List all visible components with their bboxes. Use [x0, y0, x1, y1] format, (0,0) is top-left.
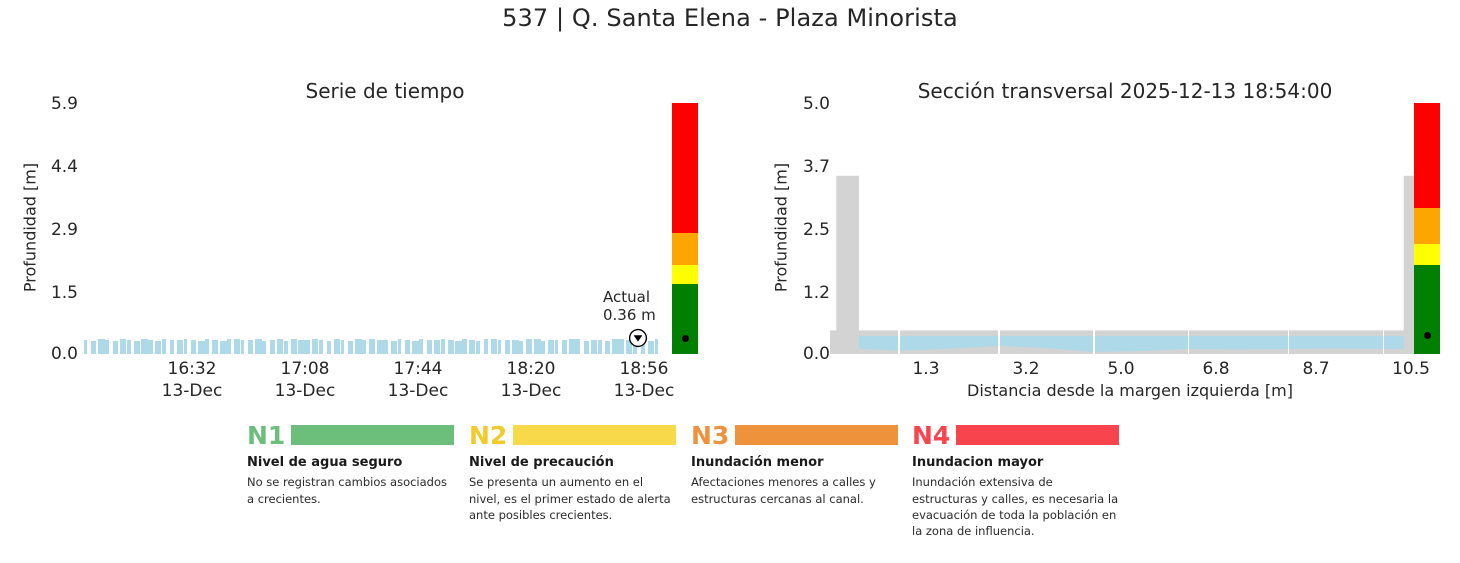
timeseries-xtick-time-4: 18:56	[584, 359, 704, 381]
legend-item-n2: N2 Nivel de precaución Se presenta un au…	[469, 422, 676, 523]
timeseries-bar	[476, 341, 479, 354]
legend-title-n4: Inundacion mayor	[912, 455, 1119, 471]
timeseries-bar	[541, 341, 545, 354]
legend-desc-n1: No se registran cambios asociados a crec…	[247, 474, 454, 507]
timeseries-bar	[277, 339, 284, 354]
timeseries-bar	[619, 339, 623, 354]
timeseries-xtick-date-4: 13-Dec	[584, 381, 704, 403]
timeseries-bar	[377, 340, 384, 354]
colorbar-current-level-marker	[682, 335, 689, 342]
cross-section-geometry	[830, 103, 1430, 354]
colorbar-segment-n1	[672, 284, 698, 354]
legend-head-n4: N4	[912, 422, 1119, 448]
legend-desc-n2: Se presenta un aumento en el nivel, es e…	[469, 474, 676, 523]
timeseries-xtick-time-0: 16:32	[132, 359, 252, 381]
timeseries-bar	[612, 339, 619, 354]
timeseries-bar	[462, 339, 466, 354]
cross-section-gridline	[1188, 330, 1190, 354]
colorbar-segment-n4	[672, 103, 698, 233]
timeseries-xtick-1: 17:08 13-Dec	[245, 359, 365, 403]
timeseries-bar	[519, 341, 523, 354]
timeseries-bar	[384, 340, 388, 354]
timeseries-ytick-1: 1.5	[16, 283, 78, 303]
timeseries-xtick-date-3: 13-Dec	[471, 381, 591, 403]
timeseries-bar	[512, 340, 519, 354]
timeseries-bar	[484, 339, 489, 354]
timeseries-bar	[148, 340, 152, 354]
timeseries-bar	[534, 339, 541, 354]
legend-item-n1: N1 Nivel de agua seguro No se registran …	[247, 422, 454, 507]
legend-swatch-n3	[735, 425, 898, 445]
timeseries-ytick-0: 0.0	[16, 344, 78, 364]
timeseries-bar	[212, 340, 218, 354]
timeseries-bar	[234, 339, 240, 354]
timeseries-xtick-2: 17:44 13-Dec	[358, 359, 478, 403]
cross-section-ytick-4: 5.0	[768, 94, 830, 114]
timeseries-bar	[291, 339, 297, 354]
timeseries-bar	[241, 340, 244, 354]
colorbar-segment-n4	[1414, 103, 1440, 208]
colorbar-segment-n2	[672, 265, 698, 284]
colorbar-segment-n1	[1414, 265, 1440, 354]
down-triangle-marker-icon	[628, 328, 648, 348]
cross-section-xtick-2: 5.0	[1081, 359, 1161, 381]
timeseries-bar	[334, 339, 340, 354]
timeseries-bar	[184, 339, 188, 354]
timeseries-bar	[341, 340, 345, 354]
flood-monitoring-dashboard: 537 | Q. Santa Elena - Plaza Minorista S…	[0, 0, 1460, 563]
timeseries-bar	[598, 340, 602, 354]
timeseries-xtick-time-2: 17:44	[358, 359, 478, 381]
actual-annotation: Actual 0.36 m	[603, 288, 656, 324]
cross-section-xtick-0: 1.3	[886, 359, 966, 381]
timeseries-bar	[412, 341, 418, 354]
timeseries-bar	[576, 339, 580, 354]
legend-swatch-n4	[956, 425, 1119, 445]
timeseries-bar	[198, 341, 205, 354]
timeseries-xtick-time-3: 18:20	[471, 359, 591, 381]
timeseries-ytick-2: 2.9	[16, 220, 78, 240]
left-bank-wall	[836, 176, 859, 354]
timeseries-bar	[562, 340, 567, 354]
timeseries-bar	[655, 339, 659, 354]
cross-section-xtick-5: 10.5	[1371, 359, 1451, 381]
timeseries-bar	[369, 339, 375, 354]
timeseries-bar	[491, 339, 497, 354]
timeseries-panel: Serie de tiempo Profundidad [m] 5.9 4.4 …	[0, 0, 730, 410]
cross-section-ytick-1: 1.2	[768, 283, 830, 303]
legend-swatch-n1	[291, 425, 454, 445]
legend-desc-n3: Afectaciones menores a calles y estructu…	[691, 474, 898, 507]
legend-desc-n4: Inundación extensiva de estructuras y ca…	[912, 474, 1119, 539]
legend-head-n2: N2	[469, 422, 676, 448]
timeseries-bar	[270, 340, 275, 354]
colorbar-current-level-marker	[1424, 332, 1431, 339]
timeseries-bar	[298, 340, 305, 354]
timeseries-xtick-date-1: 13-Dec	[245, 381, 365, 403]
timeseries-ytick-4: 5.9	[16, 94, 78, 114]
timeseries-bar	[591, 340, 598, 354]
timeseries-ytick-3: 4.4	[16, 157, 78, 177]
cross-section-ytick-2: 2.5	[768, 220, 830, 240]
cross-section-gridline	[1383, 330, 1385, 354]
cross-section-panel: Sección transversal 2025-12-13 18:54:00 …	[730, 0, 1460, 410]
colorbar-segment-n3	[672, 233, 698, 265]
timeseries-xtick-time-1: 17:08	[245, 359, 365, 381]
timeseries-bar	[605, 341, 611, 354]
timeseries-bar	[134, 341, 140, 354]
timeseries-bar	[362, 340, 366, 354]
timeseries-bar	[127, 340, 131, 354]
legend-title-n2: Nivel de precaución	[469, 455, 676, 471]
legend-code-n4: N4	[912, 423, 950, 448]
timeseries-title: Serie de tiempo	[145, 79, 625, 103]
timeseries-bar	[419, 339, 423, 354]
timeseries-bar	[548, 340, 554, 354]
timeseries-bar	[191, 340, 196, 354]
timeseries-bar	[284, 341, 288, 354]
timeseries-bar	[105, 340, 109, 354]
legend-head-n1: N1	[247, 422, 454, 448]
timeseries-bar	[648, 341, 654, 354]
timeseries-plot-area	[84, 103, 662, 354]
timeseries-bar	[355, 339, 362, 354]
timeseries-bar	[98, 339, 104, 354]
legend-head-n3: N3	[691, 422, 898, 448]
legend-item-n3: N3 Inundación menor Afectaciones menores…	[691, 422, 898, 507]
cross-section-xtick-3: 6.8	[1176, 359, 1256, 381]
legend-code-n2: N2	[469, 423, 507, 448]
colorbar-segment-n2	[1414, 244, 1440, 265]
legend-code-n1: N1	[247, 423, 285, 448]
timeseries-bar	[391, 341, 397, 354]
timeseries-bar	[441, 339, 445, 354]
timeseries-xtick-date-0: 13-Dec	[132, 381, 252, 403]
timeseries-bar	[526, 339, 532, 354]
timeseries-bar	[405, 340, 410, 354]
timeseries-bar	[448, 340, 454, 354]
timeseries-alert-colorbar	[672, 103, 698, 354]
timeseries-bar	[469, 340, 475, 354]
timeseries-bar	[120, 339, 127, 354]
timeseries-bar	[498, 340, 502, 354]
timeseries-bar	[312, 339, 318, 354]
timeseries-bar	[155, 341, 161, 354]
timeseries-bar	[348, 341, 353, 354]
timeseries-bar	[455, 341, 462, 354]
timeseries-bar	[427, 340, 432, 354]
cross-section-alert-colorbar	[1414, 103, 1440, 354]
timeseries-bar	[84, 340, 87, 354]
timeseries-bar	[170, 340, 175, 354]
timeseries-bar	[319, 340, 322, 354]
actual-value: 0.36 m	[603, 306, 656, 324]
timeseries-bar	[555, 340, 558, 354]
timeseries-bar	[262, 341, 266, 354]
cross-section-ytick-0: 0.0	[768, 344, 830, 364]
timeseries-xtick-4: 18:56 13-Dec	[584, 359, 704, 403]
timeseries-bar	[227, 339, 231, 354]
timeseries-bar	[205, 339, 209, 354]
colorbar-segment-n3	[1414, 208, 1440, 243]
timeseries-bar	[398, 339, 401, 354]
timeseries-xtick-0: 16:32 13-Dec	[132, 359, 252, 403]
timeseries-xtick-3: 18:20 13-Dec	[471, 359, 591, 403]
legend-item-n4: N4 Inundacion mayor Inundación extensiva…	[912, 422, 1119, 540]
timeseries-bar	[255, 339, 261, 354]
legend-swatch-n2	[513, 425, 676, 445]
alert-level-legend: N1 Nivel de agua seguro No se registran …	[247, 422, 1127, 552]
timeseries-xtick-date-2: 13-Dec	[358, 381, 478, 403]
cross-section-ytick-3: 3.7	[768, 157, 830, 177]
cross-section-gridline	[998, 330, 1000, 354]
timeseries-bar	[305, 340, 309, 354]
timeseries-bar	[113, 341, 118, 354]
timeseries-bar	[220, 341, 227, 354]
actual-label: Actual	[603, 288, 656, 306]
timeseries-bar	[177, 340, 183, 354]
timeseries-bar	[141, 339, 148, 354]
legend-title-n3: Inundación menor	[691, 455, 898, 471]
timeseries-bar	[248, 340, 253, 354]
legend-code-n3: N3	[691, 423, 729, 448]
cross-section-gridline	[898, 330, 900, 354]
cross-section-plot-area	[830, 103, 1430, 354]
cross-section-xtick-1: 3.2	[986, 359, 1066, 381]
timeseries-bar	[434, 340, 441, 354]
timeseries-bar	[584, 341, 589, 354]
timeseries-bar	[162, 339, 165, 354]
timeseries-bar	[327, 341, 332, 354]
cross-section-gridline	[1288, 330, 1290, 354]
timeseries-bar	[91, 341, 96, 354]
cross-section-xlabel: Distancia desde la margen izquierda [m]	[830, 381, 1430, 400]
cross-section-title: Sección transversal 2025-12-13 18:54:00	[805, 79, 1445, 103]
cross-section-xtick-4: 8.7	[1276, 359, 1356, 381]
timeseries-bar	[569, 339, 575, 354]
timeseries-bar	[505, 340, 510, 354]
cross-section-gridline	[1093, 330, 1095, 354]
legend-title-n1: Nivel de agua seguro	[247, 455, 454, 471]
